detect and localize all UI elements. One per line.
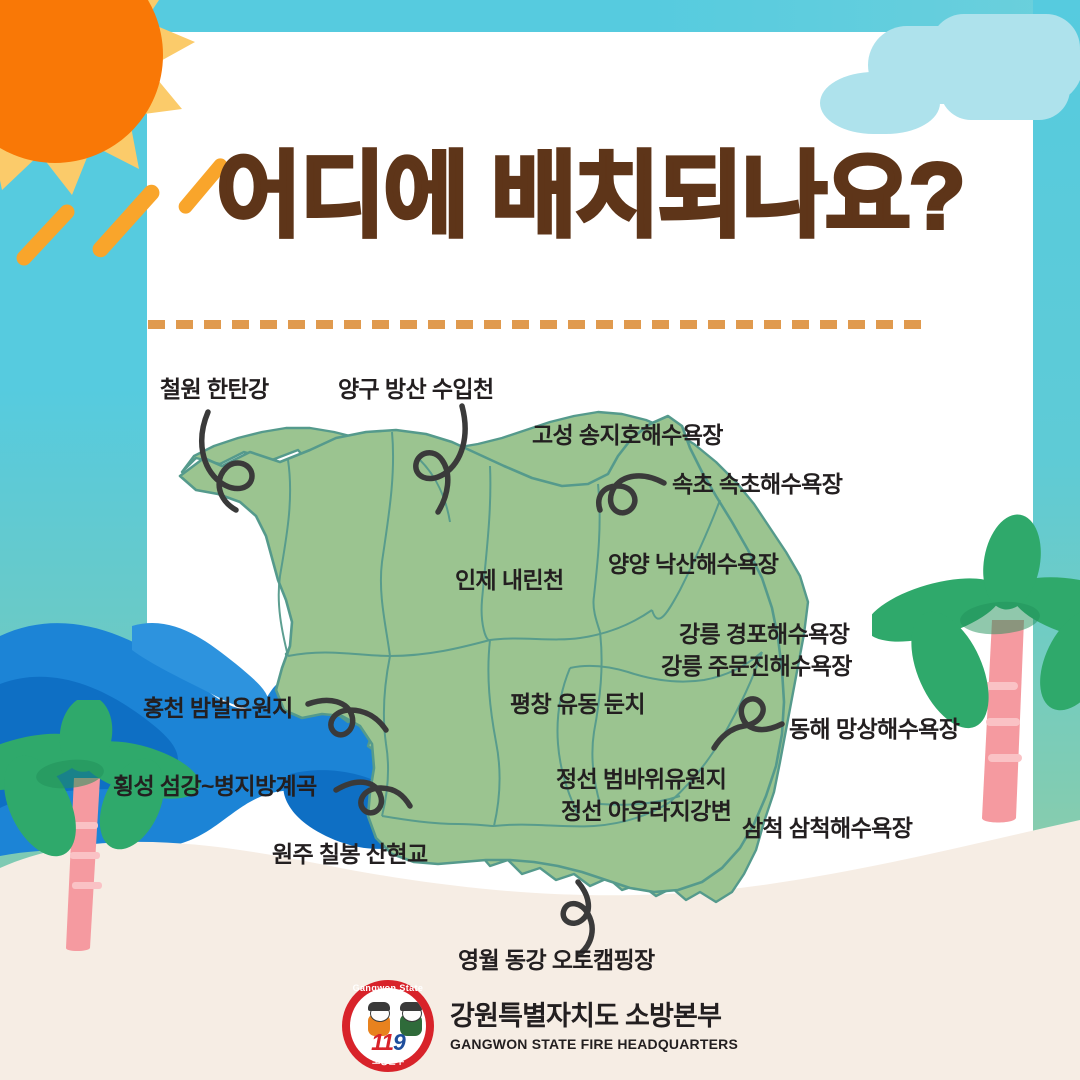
logo-119-blue: 9 [393,1029,405,1055]
map-label-yanggu[interactable]: 양구 방산 수입천 [338,375,494,404]
palm-tree-icon [0,700,214,960]
page-title: 어디에 배치되나요? [147,150,1033,243]
org-name-korean: 강원특별자치도 소방본부 [450,1000,738,1032]
map-label-goseong[interactable]: 고성 송지호해수욕장 [532,421,723,450]
footer-text-block: 강원특별자치도 소방본부 GANGWON STATE FIRE HEADQUAR… [450,1000,738,1051]
poster-canvas: 어디에 배치되나요? [0,0,1080,1080]
footer-branding: Gangwon State 119 소방본부 [0,972,1080,1080]
palm-tree-icon [872,500,1080,830]
logo-119-number: 119 [342,1029,434,1056]
map-label-cheorwon[interactable]: 철원 한탄강 [160,375,269,404]
map-label-inje[interactable]: 인제 내린천 [455,566,564,595]
map-label-wonju[interactable]: 원주 칠봉 산현교 [272,840,428,869]
map-label-yangyang[interactable]: 양양 낙산해수욕장 [608,550,778,579]
map-label-yeongwol[interactable]: 영월 동강 오토캠핑장 [458,946,655,975]
logo-bottom-text: 소방본부 [342,1054,434,1067]
map-label-sokcho[interactable]: 속초 속초해수욕장 [672,470,842,499]
map-label-pyeongchang[interactable]: 평창 유동 둔치 [510,690,645,719]
map-label-jeongseon-beombawi[interactable]: 정선 범바위유원지 [556,765,726,794]
map-label-hongcheon[interactable]: 홍천 밤벌유원지 [143,694,293,723]
map-label-donghae[interactable]: 동해 망상해수욕장 [789,715,959,744]
map-label-gangneung-gyeongpo[interactable]: 강릉 경포해수욕장 [679,620,849,649]
cloud-icon [820,72,940,134]
map-label-gangneung-jumunjin[interactable]: 강릉 주문진해수욕장 [661,652,852,681]
map-label-samcheok[interactable]: 삼척 삼척해수욕장 [742,814,912,843]
title-divider [148,320,926,329]
fire-hq-logo-icon: Gangwon State 119 소방본부 [342,980,434,1072]
map-label-hoengseong[interactable]: 횡성 섬강~병지방계곡 [113,772,317,801]
logo-119-red: 11 [371,1029,393,1055]
org-name-english: GANGWON STATE FIRE HEADQUARTERS [450,1036,738,1052]
map-label-jeongseon-auraji[interactable]: 정선 아우라지강변 [561,797,731,826]
